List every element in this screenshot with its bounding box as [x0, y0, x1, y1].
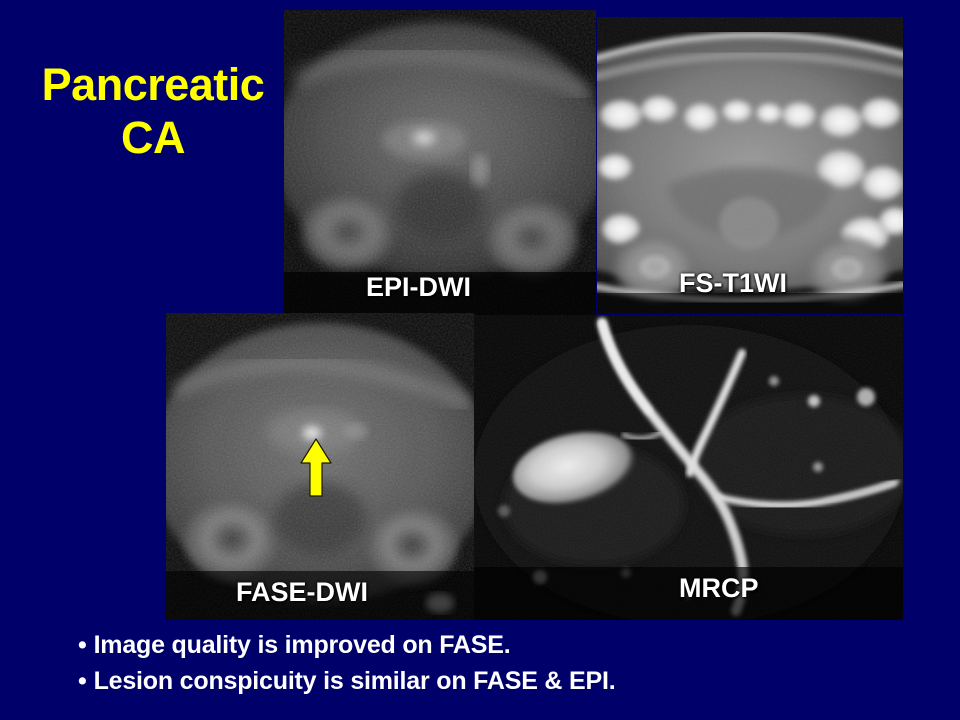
bullet-list: •Image quality is improved on FASE. •Les… — [78, 628, 938, 699]
panel-label-mrcp: MRCP — [679, 573, 759, 604]
presentation-slide: Pancreatic CA — [0, 0, 960, 720]
panel-label-fase-dwi: FASE-DWI — [236, 577, 368, 608]
title-line-2: CA — [8, 111, 298, 164]
bullet-item-1: •Image quality is improved on FASE. — [78, 628, 938, 664]
title-line-1: Pancreatic — [8, 58, 298, 111]
bullet-text: Lesion conspicuity is similar on FASE & … — [94, 667, 616, 695]
panel-label-epi-dwi: EPI-DWI — [366, 272, 471, 303]
bullet-marker: • — [78, 628, 87, 664]
lesion-arrow-icon — [299, 438, 333, 498]
slide-title: Pancreatic CA — [8, 58, 298, 164]
bullet-marker: • — [78, 664, 87, 700]
bullet-text: Image quality is improved on FASE. — [94, 631, 511, 659]
panel-label-fs-t1wi: FS-T1WI — [679, 268, 787, 299]
bullet-item-2: •Lesion conspicuity is similar on FASE &… — [78, 664, 938, 700]
